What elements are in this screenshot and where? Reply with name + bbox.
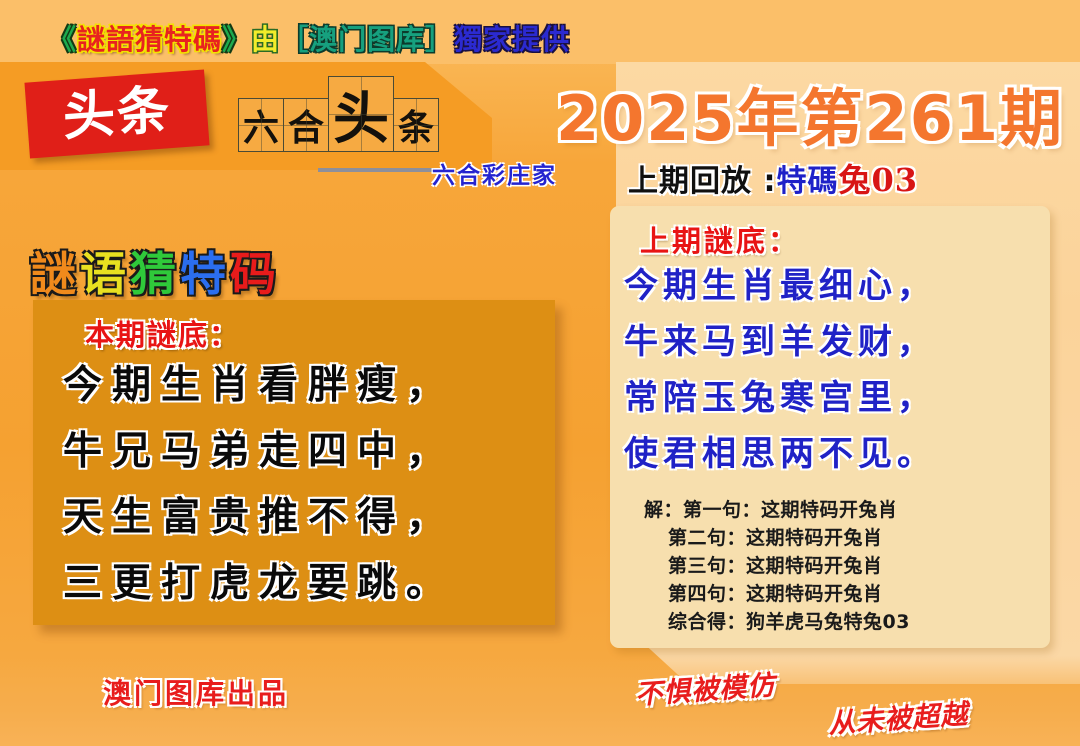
current-riddle-poem: 今期生肖看胖瘦， 牛兄马弟走四中， 天生富贵推不得， 三更打虎龙要跳。 <box>63 352 533 616</box>
poster-canvas: 《謎語猜特碼》 由 ［澳门图库］獨家提供 头条 六 合 头 条 六合彩庄家 20… <box>0 0 1080 746</box>
grid-cell-1: 六 <box>238 98 284 152</box>
tagline-by: 由 <box>251 18 280 58</box>
rainbow-char-4: 特 <box>180 238 230 304</box>
grid-cell-3: 头 <box>328 76 394 152</box>
poem-line: 三更打虎龙要跳。 <box>63 550 533 616</box>
previous-riddle-poem: 今期生肖最细心， 牛来马到羊发财， 常陪玉兔寒宫里， 使君相思两不见。 <box>624 258 1044 482</box>
headline-badge-label: 头条 <box>63 84 172 144</box>
poem-line: 牛兄马弟走四中， <box>63 418 533 484</box>
poem-line: 牛来马到羊发财， <box>624 314 1044 370</box>
playback-special-label: 特碼 <box>776 156 838 200</box>
tagline-close-bracket: 》 <box>222 18 251 58</box>
explanation-line: 第二句：这期特码开兔肖 <box>644 524 1044 552</box>
riddle-rainbow-title: 謎语猜特码 <box>30 238 280 304</box>
playback-label: 上期回放 : <box>628 156 776 200</box>
divider-rule <box>318 168 443 172</box>
rainbow-char-3: 猜 <box>130 238 180 304</box>
grid-cell-4: 条 <box>393 98 439 152</box>
explanation-line: 综合得：狗羊虎马兔特兔03 <box>644 608 1044 636</box>
playback-result: 兔03 <box>838 155 918 201</box>
tagline-source: ［澳门图库］ <box>280 18 454 58</box>
explanation-line: 第三句：这期特码开兔肖 <box>644 552 1044 580</box>
brand-subline: 六合彩庄家 <box>432 156 557 190</box>
footer-publisher: 澳门图库出品 <box>103 672 289 712</box>
previous-riddle-title: 上期謎底： <box>640 218 800 260</box>
explanation-line: 第四句：这期特码开兔肖 <box>644 580 1044 608</box>
poem-line: 天生富贵推不得， <box>63 484 533 550</box>
poem-line: 常陪玉兔寒宫里， <box>624 370 1044 426</box>
rainbow-char-5: 码 <box>230 238 280 304</box>
poem-line: 今期生肖看胖瘦， <box>63 352 533 418</box>
current-riddle-title: 本期謎底： <box>85 312 240 354</box>
previous-riddle-panel: 上期謎底： 今期生肖最细心， 牛来马到羊发财， 常陪玉兔寒宫里， 使君相思两不见… <box>610 206 1050 648</box>
rainbow-char-2: 语 <box>80 238 130 304</box>
previous-riddle-explanation: 解：第一句：这期特码开兔肖 第二句：这期特码开兔肖 第三句：这期特码开兔肖 第四… <box>644 496 1044 636</box>
current-riddle-panel: 本期謎底： 今期生肖看胖瘦， 牛兄马弟走四中， 天生富贵推不得， 三更打虎龙要跳… <box>33 300 555 625</box>
poem-line: 使君相思两不见。 <box>624 426 1044 482</box>
brand-grid-word: 六 合 头 条 <box>238 76 438 152</box>
poem-line: 今期生肖最细心， <box>624 258 1044 314</box>
last-issue-playback: 上期回放 :特碼兔03 <box>628 155 918 201</box>
explanation-line: 解：第一句：这期特码开兔肖 <box>644 496 1044 524</box>
rainbow-char-1: 謎 <box>30 238 80 304</box>
tagline-title: 謎語猜特碼 <box>77 18 222 58</box>
header-tagline: 《謎語猜特碼》 由 ［澳门图库］獨家提供 <box>48 18 570 58</box>
tagline-open-bracket: 《 <box>48 18 77 58</box>
headline-badge: 头条 <box>24 70 209 159</box>
tagline-exclusive: 獨家提供 <box>454 18 570 58</box>
grid-cell-2: 合 <box>283 98 329 152</box>
issue-title: 2025年第261期 <box>556 68 1064 158</box>
